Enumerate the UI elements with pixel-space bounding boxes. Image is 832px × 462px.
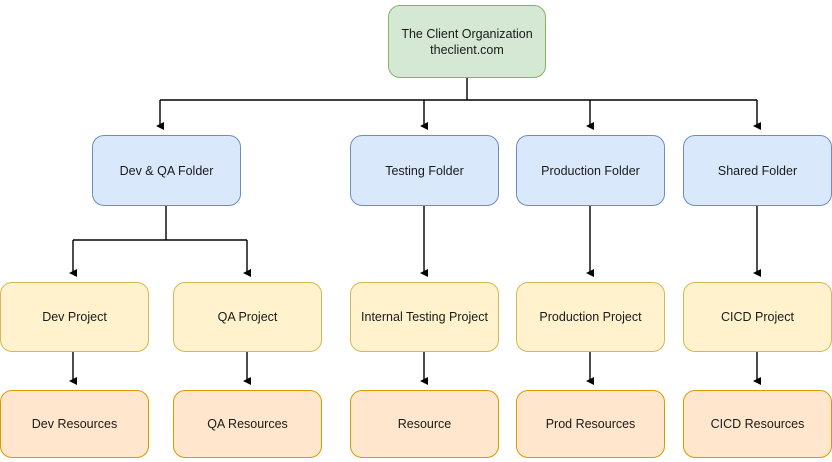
node-production-folder-label: Production Folder (541, 163, 640, 179)
node-cicd-project[interactable]: CICD Project (683, 282, 832, 352)
node-production-project-label: Production Project (539, 309, 641, 325)
node-root[interactable]: The Client Organization theclient.com (388, 5, 546, 78)
node-root-label: The Client Organization theclient.com (401, 26, 532, 58)
node-production-folder[interactable]: Production Folder (516, 135, 665, 206)
node-cicd-resources-label: CICD Resources (711, 416, 805, 432)
node-cicd-project-label: CICD Project (721, 309, 794, 325)
node-dev-project[interactable]: Dev Project (0, 282, 149, 352)
node-internal-testing-project[interactable]: Internal Testing Project (350, 282, 499, 352)
node-dev-project-label: Dev Project (42, 309, 107, 325)
node-internal-testing-project-label: Internal Testing Project (361, 309, 488, 325)
node-qa-resources[interactable]: QA Resources (173, 390, 322, 458)
node-testing-folder-label: Testing Folder (385, 163, 464, 179)
node-testing-folder[interactable]: Testing Folder (350, 135, 499, 206)
node-shared-folder[interactable]: Shared Folder (683, 135, 832, 206)
node-production-project[interactable]: Production Project (516, 282, 665, 352)
edge-root-bus (160, 78, 757, 100)
node-qa-project-label: QA Project (218, 309, 278, 325)
node-dev-resources-label: Dev Resources (32, 416, 117, 432)
node-prod-resources[interactable]: Prod Resources (516, 390, 665, 458)
node-dev-resources[interactable]: Dev Resources (0, 390, 149, 458)
node-resource[interactable]: Resource (350, 390, 499, 458)
node-dev-qa-folder-label: Dev & QA Folder (120, 163, 214, 179)
node-resource-label: Resource (398, 416, 452, 432)
node-dev-qa-folder[interactable]: Dev & QA Folder (92, 135, 241, 206)
node-shared-folder-label: Shared Folder (718, 163, 797, 179)
node-cicd-resources[interactable]: CICD Resources (683, 390, 832, 458)
node-prod-resources-label: Prod Resources (546, 416, 636, 432)
node-qa-project[interactable]: QA Project (173, 282, 322, 352)
node-qa-resources-label: QA Resources (207, 416, 288, 432)
edge-dev-qa-folder-bus (73, 206, 247, 240)
diagram-canvas: The Client Organization theclient.com De… (0, 0, 832, 462)
